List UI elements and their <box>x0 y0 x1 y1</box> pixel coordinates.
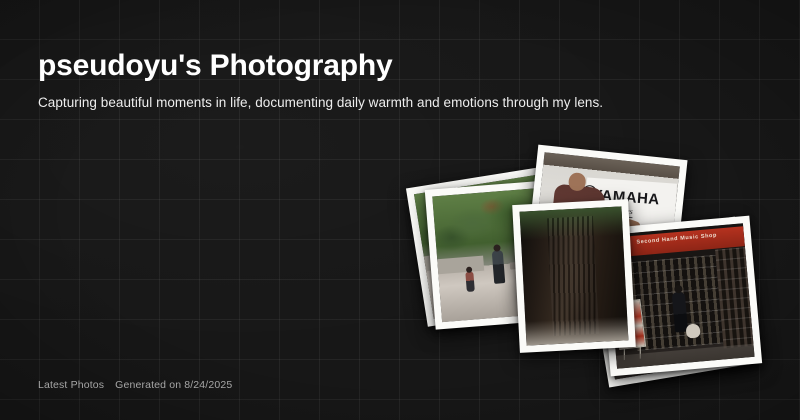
page-subtitle: Capturing beautiful moments in life, doc… <box>38 94 603 112</box>
photo-image-tree-trunk <box>520 206 629 345</box>
page-title: pseudoyu's Photography <box>38 48 603 84</box>
footer-generated-on-text: Generated on 8/24/2025 <box>115 379 232 392</box>
park-person-child <box>465 272 475 293</box>
park-person-adult <box>492 250 506 284</box>
footer-latest-photos-label: Latest Photos <box>38 379 104 392</box>
park-wall <box>437 256 484 275</box>
card-footer: Latest Photos Generated on 8/24/2025 <box>38 379 232 392</box>
tree-trunk-scene-graphic <box>520 206 629 345</box>
photography-og-card: pseudoyu's Photography Capturing beautif… <box>0 0 800 420</box>
photo-frame-tree-trunk <box>512 199 636 353</box>
header-text-block: pseudoyu's Photography Capturing beautif… <box>38 48 603 112</box>
tree-bark-texture <box>546 216 599 336</box>
photo-collage: YAMAHA Make Waves AND MUSIC IS FOR EVERY… <box>408 140 768 380</box>
